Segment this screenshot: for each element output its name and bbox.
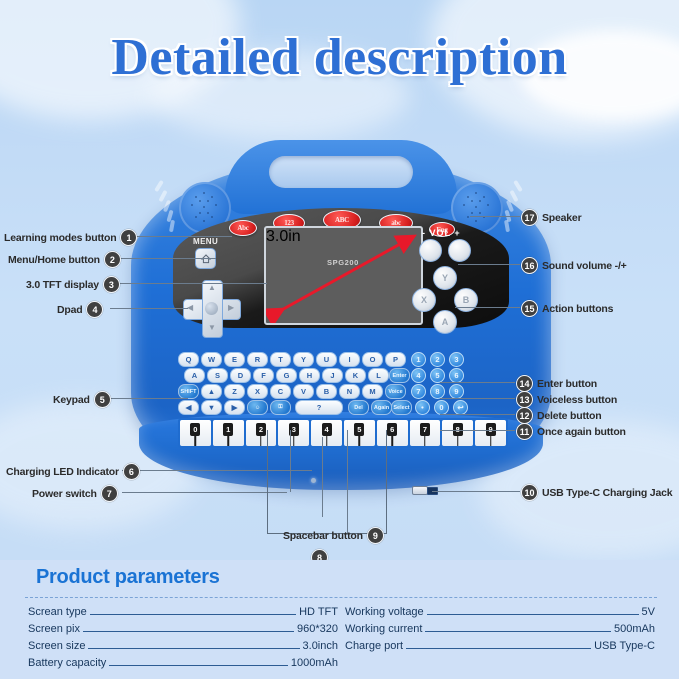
key-u[interactable]: U — [316, 352, 337, 367]
numpad-2[interactable]: 2 — [430, 352, 445, 367]
callout-label: Speaker — [542, 212, 581, 224]
callout-delete-button: 12 Delete button — [516, 407, 601, 424]
key-down-arrow[interactable]: ▼ — [201, 400, 222, 415]
callout-speaker: 17 Speaker — [521, 209, 581, 226]
key-s[interactable]: S — [207, 368, 228, 383]
callout-keypad: Keypad 5 — [53, 391, 111, 408]
product-parameters-section: Product parameters Screan type HD TFT Sc… — [0, 560, 679, 679]
power-switch[interactable] — [412, 486, 428, 495]
param-key: Battery capacity — [28, 655, 106, 672]
volume-label: - VOL + — [422, 228, 461, 238]
param-value: USB Type-C — [594, 638, 655, 655]
param-key: Working voltage — [345, 604, 424, 621]
leader-dots — [109, 659, 288, 666]
leader-line — [470, 216, 520, 217]
param-value: 5V — [642, 604, 655, 621]
piano-key-label: 7 — [420, 423, 430, 436]
callout-badge: 7 — [101, 485, 118, 502]
callout-label: Once again button — [537, 426, 626, 438]
leader-line — [440, 382, 515, 383]
callout-enter-button: 14 Enter button — [516, 375, 597, 392]
infographic-root: Detailed description — [0, 0, 679, 679]
enter-button[interactable]: Enter — [389, 368, 410, 383]
key-e[interactable]: E — [224, 352, 245, 367]
leader-line — [110, 308, 188, 309]
callout-badge: 13 — [516, 391, 533, 408]
action-button-y[interactable]: Y — [433, 266, 457, 290]
piano-key-label: 6 — [387, 423, 397, 436]
param-value: 960*320 — [297, 621, 338, 638]
numpad-dot[interactable]: • — [415, 400, 430, 415]
callout-badge: 5 — [94, 391, 111, 408]
leader-line — [347, 430, 348, 533]
piano-key-label: 2 — [256, 423, 266, 436]
leader-line — [458, 264, 520, 265]
back-button[interactable]: ↩ — [453, 400, 468, 415]
params-title: Product parameters — [36, 566, 220, 589]
leader-line — [290, 430, 291, 492]
volume-down-button[interactable] — [419, 239, 442, 262]
callout-label: Keypad — [53, 394, 90, 406]
key-x[interactable]: X — [247, 384, 268, 399]
key-o[interactable]: O — [362, 352, 383, 367]
callout-learning-modes-button: Learning modes button 1 — [4, 229, 137, 246]
callout-badge: 6 — [123, 463, 140, 480]
spare-buttons-bracket — [267, 430, 387, 534]
callout-label: Dpad — [57, 304, 82, 316]
grip-ridge — [509, 190, 518, 202]
callout-label: Enter button — [537, 378, 597, 390]
key-t[interactable]: T — [270, 352, 291, 367]
callout-label: Delete button — [537, 410, 601, 422]
leader-line — [118, 258, 216, 259]
callout-badge: 4 — [86, 301, 103, 318]
param-row: Screen size 3.0inch — [28, 638, 338, 655]
callout-tft-display: 3.0 TFT display 3 — [26, 276, 120, 293]
key-j[interactable]: J — [322, 368, 343, 383]
param-row: Screan type HD TFT — [28, 604, 338, 621]
callout-sound-volume: 16 Sound volume -/+ — [521, 257, 627, 274]
param-row: Working current 500mAh — [345, 621, 655, 638]
shift-button[interactable]: SHIFT — [178, 384, 199, 399]
learning-mode-button-1[interactable]: Abc — [229, 220, 257, 236]
piano-key[interactable]: 0 — [180, 420, 211, 446]
params-column-left: Screan type HD TFT Screen pix 960*320 Sc… — [28, 604, 338, 672]
leader-dots — [425, 625, 611, 632]
param-key: Screen pix — [28, 621, 80, 638]
callout-badge: 17 — [521, 209, 538, 226]
callout-spacebar-button: Spacebar button 9 — [283, 527, 384, 544]
param-row: Working voltage 5V — [345, 604, 655, 621]
action-button-a[interactable]: A — [433, 310, 457, 334]
callout-power-switch: Power switch 7 — [32, 485, 118, 502]
callout-label: Charging LED Indicator — [6, 466, 119, 478]
leader-line — [122, 236, 232, 237]
param-key: Working current — [345, 621, 422, 638]
leader-line — [455, 307, 520, 308]
divider — [25, 597, 657, 598]
numpad-0[interactable]: 0 — [434, 400, 449, 415]
param-row: Battery capacity 1000mAh — [28, 655, 338, 672]
key-h[interactable]: H — [299, 368, 320, 383]
piano-key-label: 1 — [223, 423, 233, 436]
key-q[interactable]: Q — [178, 352, 199, 367]
action-button-x[interactable]: X — [412, 288, 436, 312]
piano-key-label: 0 — [190, 423, 200, 436]
dpad[interactable]: ▲ ▼ ◀ ▶ — [183, 280, 239, 336]
key-c[interactable]: C — [270, 384, 291, 399]
leader-dots — [427, 608, 639, 615]
leader-dots — [88, 642, 299, 649]
callout-badge: 10 — [521, 484, 538, 501]
param-key: Charge port — [345, 638, 403, 655]
callout-label: Power switch — [32, 488, 97, 500]
voiceless-button[interactable]: Voice — [385, 384, 406, 399]
key-v[interactable]: V — [293, 384, 314, 399]
numpad-3[interactable]: 3 — [449, 352, 464, 367]
person-button[interactable]: ☺ — [247, 400, 268, 415]
param-value: HD TFT — [299, 604, 338, 621]
once-again-button[interactable]: Again — [371, 400, 392, 415]
key-g[interactable]: G — [276, 368, 297, 383]
menu-label: MENU — [193, 237, 218, 246]
model-text: SPG200 — [327, 258, 359, 267]
leader-line — [440, 398, 515, 399]
dpad-down-icon: ▼ — [208, 323, 216, 332]
callout-badge: 16 — [521, 257, 538, 274]
callout-badge: 14 — [516, 375, 533, 392]
callout-label: Learning modes button — [4, 232, 116, 244]
numpad-8[interactable]: 8 — [430, 384, 445, 399]
callout-badge: 2 — [104, 251, 121, 268]
callout-label: Action buttons — [542, 303, 613, 315]
param-value: 1000mAh — [291, 655, 338, 672]
key-left-arrow[interactable]: ◀ — [178, 400, 199, 415]
piano-key[interactable]: 7 — [410, 420, 441, 446]
leader-line — [322, 437, 323, 517]
key-n[interactable]: N — [339, 384, 360, 399]
leader-line — [110, 398, 188, 399]
callout-badge: 11 — [516, 423, 533, 440]
param-row: Screen pix 960*320 — [28, 621, 338, 638]
dpad-center — [205, 302, 218, 315]
leader-line — [112, 283, 267, 284]
callout-badge: 1 — [120, 229, 137, 246]
leader-line — [440, 430, 515, 431]
numpad-5[interactable]: 5 — [430, 368, 445, 383]
dpad-up-icon: ▲ — [208, 283, 216, 292]
callout-badge: 3 — [103, 276, 120, 293]
key-right-arrow[interactable]: ▶ — [224, 400, 245, 415]
piano-key[interactable]: 1 — [213, 420, 244, 446]
callout-label: Voiceless button — [537, 394, 617, 406]
callout-charging-led: Charging LED Indicator 6 — [6, 463, 140, 480]
key-d[interactable]: D — [230, 368, 251, 383]
piano-key[interactable]: 9 — [475, 420, 506, 446]
key-b[interactable]: B — [316, 384, 337, 399]
param-value: 500mAh — [614, 621, 655, 638]
key-y[interactable]: Y — [293, 352, 314, 367]
key-r[interactable]: R — [247, 352, 268, 367]
select-button[interactable]: Select — [391, 400, 412, 415]
callout-label: 3.0 TFT display — [26, 279, 99, 291]
plug-button[interactable]: ⚿ — [270, 400, 291, 415]
leader-line — [432, 491, 520, 492]
param-value: 3.0inch — [303, 638, 338, 655]
callout-badge: 12 — [516, 407, 533, 424]
numpad-7[interactable]: 7 — [411, 384, 426, 399]
leader-line — [122, 492, 287, 493]
piano-key[interactable]: 8 — [442, 420, 473, 446]
callout-badge: 15 — [521, 300, 538, 317]
param-key: Screen size — [28, 638, 85, 655]
spacebar-button[interactable]: ? — [295, 400, 343, 415]
volume-up-button[interactable] — [448, 239, 471, 262]
numpad-9[interactable]: 9 — [449, 384, 464, 399]
callout-label: Menu/Home button — [8, 254, 100, 266]
key-i[interactable]: I — [339, 352, 360, 367]
key-l[interactable]: L — [368, 368, 389, 383]
delete-button[interactable]: Del — [348, 400, 369, 415]
key-f[interactable]: F — [253, 368, 274, 383]
callout-dpad: Dpad 4 — [57, 301, 103, 318]
callout-action-buttons: 15 Action buttons — [521, 300, 613, 317]
key-w[interactable]: W — [201, 352, 222, 367]
leader-line — [440, 414, 515, 415]
callout-once-again-button: 11 Once again button — [516, 423, 626, 440]
page-title: Detailed description — [0, 28, 679, 88]
callout-badge: 9 — [367, 527, 384, 544]
screen-diagonal-arrow — [266, 228, 421, 323]
params-column-right: Working voltage 5V Working current 500mA… — [345, 604, 655, 655]
callout-usb-jack: 10 USB Type-C Charging Jack — [521, 484, 672, 501]
leader-dots — [90, 608, 296, 615]
leader-dots — [83, 625, 294, 632]
key-k[interactable]: K — [345, 368, 366, 383]
grip-ridge — [513, 180, 523, 192]
key-a[interactable]: A — [184, 368, 205, 383]
key-m[interactable]: M — [362, 384, 383, 399]
numpad-4[interactable]: 4 — [411, 368, 426, 383]
leader-dots — [406, 642, 591, 649]
carry-handle-hole — [269, 156, 413, 188]
numpad-6[interactable]: 6 — [449, 368, 464, 383]
key-up-arrow[interactable]: ▲ — [201, 384, 222, 399]
callout-label: USB Type-C Charging Jack — [542, 487, 672, 499]
callout-label: Sound volume -/+ — [542, 260, 627, 272]
key-z[interactable]: Z — [224, 384, 245, 399]
param-key: Screan type — [28, 604, 87, 621]
callout-menu-home-button: Menu/Home button 2 — [8, 251, 121, 268]
numpad-1[interactable]: 1 — [411, 352, 426, 367]
action-button-b[interactable]: B — [454, 288, 478, 312]
callout-voiceless-button: 13 Voiceless button — [516, 391, 617, 408]
tft-display: 3.0in — [264, 226, 423, 325]
key-p[interactable]: P — [385, 352, 406, 367]
param-row: Charge port USB Type-C — [345, 638, 655, 655]
dpad-right-icon: ▶ — [228, 303, 234, 312]
callout-label: Spacebar button — [283, 530, 363, 542]
